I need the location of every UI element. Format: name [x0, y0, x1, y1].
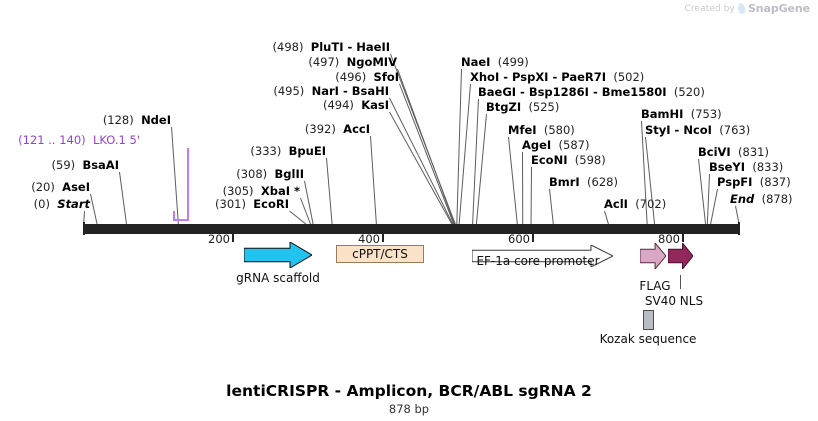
restriction-site-agei[interactable]: AgeI (587) — [522, 139, 589, 151]
feature-label-kozak-sequence: Kozak sequence — [600, 332, 697, 346]
start-marker[interactable]: (0) Start — [34, 198, 90, 210]
site-name: EcoNI — [531, 153, 567, 167]
feature-arrow-sv40-nls[interactable] — [668, 243, 693, 269]
start-position: (0) — [34, 197, 50, 211]
site-name: AccI — [343, 122, 370, 136]
site-name: BtgZI — [486, 100, 521, 114]
feature-arrow-flag[interactable] — [640, 243, 666, 269]
site-name: MfeI — [508, 123, 537, 137]
backbone-end-cap — [738, 222, 740, 235]
ruler-label-400: 400 — [358, 232, 382, 246]
site-name: KasI — [361, 98, 389, 112]
restriction-site-bcivi[interactable]: BciVI (831) — [698, 146, 769, 158]
restriction-site-ecori[interactable]: (301) EcoRI — [215, 198, 289, 210]
feature-label-sv40-nls: SV40 NLS — [645, 294, 703, 308]
site-position: (498) — [273, 40, 304, 54]
snapgene-watermark: Created by SnapGene — [684, 2, 810, 15]
site-name: BamHI — [641, 107, 683, 121]
site-leader-line — [522, 152, 523, 226]
primer-end-tick — [173, 211, 175, 221]
restriction-site-sfoi[interactable]: (496) SfoI — [335, 71, 399, 83]
site-name: EcoRI — [253, 197, 289, 211]
site-position: (520) — [674, 85, 705, 99]
site-name: BseYI — [709, 160, 745, 174]
restriction-site-mfei[interactable]: MfeI (580) — [508, 124, 575, 136]
primer-stem-line — [187, 148, 189, 221]
restriction-site-bglii[interactable]: (308) BglII — [236, 168, 304, 180]
restriction-site-bamhi[interactable]: BamHI (753) — [641, 108, 722, 120]
ruler-tick-800 — [682, 233, 684, 242]
site-leader-line — [707, 174, 710, 226]
site-position: (59) — [52, 158, 76, 172]
ruler-tick-400 — [382, 233, 384, 242]
primer-name: LKO.1 5' — [93, 133, 140, 147]
site-leader-line — [549, 189, 554, 226]
restriction-site-naei[interactable]: NaeI (499) — [461, 56, 529, 68]
restriction-site-bseyi[interactable]: BseYI (833) — [709, 161, 783, 173]
site-position: (837) — [760, 175, 791, 189]
site-position: (598) — [575, 153, 606, 167]
site-name: StyI - NcoI — [645, 123, 712, 137]
feature-arrow-grna-scaffold[interactable] — [244, 242, 312, 268]
site-position: (128) — [103, 113, 134, 127]
site-position: (587) — [559, 138, 590, 152]
site-leader-line — [710, 189, 718, 226]
site-name: NgoMIV — [347, 55, 397, 69]
site-position: (525) — [528, 100, 559, 114]
restriction-site-btgzi[interactable]: BtgZI (525) — [486, 101, 559, 113]
site-leader-line — [389, 98, 454, 226]
site-name: BglII — [275, 167, 305, 181]
restriction-site-ndei[interactable]: (128) NdeI — [103, 114, 171, 126]
restriction-site-kasi[interactable]: (494) KasI — [323, 99, 389, 111]
backbone-start-cap — [83, 222, 85, 235]
site-name: AclI — [604, 197, 628, 211]
feature-label-ef1a-core-promoter: EF-1a core promoter — [476, 254, 599, 268]
site-name: NarI - BsaHI — [312, 84, 389, 98]
watermark-brand: SnapGene — [748, 2, 810, 15]
restriction-site-bmri[interactable]: BmrI (628) — [549, 176, 618, 188]
plasmid-map-canvas: Created by SnapGene (20) AseI(59) BsaAI(… — [0, 0, 818, 421]
watermark-prefix: Created by — [684, 4, 735, 14]
site-name: SfoI — [374, 70, 399, 84]
restriction-site-asei[interactable]: (20) AseI — [31, 181, 90, 193]
feature-label-flag: FLAG — [639, 279, 670, 293]
primer-arrow-line — [173, 219, 189, 221]
site-name: BmrI — [549, 175, 580, 189]
site-leader-line — [531, 167, 532, 226]
restriction-site-acli[interactable]: AclI (702) — [604, 198, 666, 210]
restriction-site-baegi[interactable]: BaeGI - Bsp1286I - Bme1580I (520) — [478, 86, 705, 98]
ruler-tick-200 — [232, 233, 234, 242]
sequence-backbone[interactable] — [83, 226, 740, 234]
site-name: XhoI - PspXI - PaeR7I — [470, 70, 606, 84]
site-name: BciVI — [698, 145, 731, 159]
site-position: (702) — [635, 197, 666, 211]
snapgene-drop-icon — [737, 2, 746, 14]
site-position: (308) — [236, 167, 267, 181]
site-name: PspFI — [717, 175, 752, 189]
ruler-label-600: 600 — [508, 232, 532, 246]
restriction-site-pluti[interactable]: (498) PluTI - HaeII — [273, 41, 390, 53]
ruler-label-200: 200 — [208, 232, 232, 246]
site-position: (305) — [223, 184, 254, 198]
restriction-site-pspfi[interactable]: PspFI (837) — [717, 176, 791, 188]
site-position: (496) — [335, 70, 366, 84]
end-label: End — [730, 192, 754, 206]
site-position: (392) — [305, 122, 336, 136]
site-position: (831) — [738, 145, 769, 159]
site-position: (580) — [544, 123, 575, 137]
end-marker[interactable]: End (878) — [730, 193, 793, 205]
site-leader-line — [90, 194, 98, 226]
ruler-tick-600 — [532, 233, 534, 242]
site-name: XbaI * — [261, 184, 300, 198]
site-leader-line — [326, 158, 333, 226]
restriction-site-bpuei[interactable]: (333) BpuEI — [250, 145, 326, 157]
site-name: BpuEI — [289, 144, 326, 158]
site-leader-line — [698, 159, 706, 226]
restriction-site-xbai[interactable]: (305) XbaI * — [223, 185, 300, 197]
restriction-site-styi[interactable]: StyI - NcoI (763) — [645, 124, 750, 136]
restriction-site-acci[interactable]: (392) AccI — [305, 123, 370, 135]
site-name: NaeI — [461, 55, 490, 69]
site-leader-line — [390, 54, 456, 226]
site-position: (499) — [498, 55, 529, 69]
site-name: NdeI — [141, 113, 171, 127]
site-leader-line — [508, 137, 518, 226]
map-title: lentiCRISPR - Amplicon, BCR/ABL sgRNA 2 — [0, 382, 818, 400]
site-name: BsaAI — [82, 158, 119, 172]
feature-label-grna-scaffold: gRNA scaffold — [236, 271, 320, 285]
site-position: (494) — [323, 98, 354, 112]
feature-box-cppt-cts[interactable]: cPPT/CTS — [336, 245, 424, 263]
site-position: (763) — [719, 123, 750, 137]
site-name: PluTI - HaeII — [311, 40, 390, 54]
end-position: (878) — [762, 192, 793, 206]
restriction-site-xhoi[interactable]: XhoI - PspXI - PaeR7I (502) — [470, 71, 644, 83]
site-name: AseI — [62, 180, 90, 194]
restriction-site-econi[interactable]: EcoNI (598) — [531, 154, 606, 166]
restriction-site-nari[interactable]: (495) NarI - BsaHI — [273, 85, 389, 97]
start-label: Start — [57, 197, 90, 211]
site-leader-line — [370, 136, 377, 226]
site-name: BaeGI - Bsp1286I - Bme1580I — [478, 85, 667, 99]
site-position: (833) — [752, 160, 783, 174]
site-position: (495) — [273, 84, 304, 98]
site-position: (497) — [308, 55, 339, 69]
sv40-nls-leader-line — [680, 275, 681, 289]
restriction-site-bsaai[interactable]: (59) BsaAI — [52, 159, 119, 171]
primer-position: (121 .. 140) — [18, 133, 86, 147]
site-leader-line — [119, 172, 127, 226]
site-name: AgeI — [522, 138, 551, 152]
site-position: (628) — [587, 175, 618, 189]
primer-label-lko1-5prime[interactable]: (121 .. 140) LKO.1 5' — [18, 134, 140, 146]
map-length: 878 bp — [0, 402, 818, 416]
feature-box-kozak-sequence[interactable] — [643, 310, 654, 330]
restriction-site-ngomiv[interactable]: (497) NgoMIV — [308, 56, 397, 68]
site-position: (502) — [613, 70, 644, 84]
site-position: (333) — [250, 144, 281, 158]
site-position: (301) — [215, 197, 246, 211]
site-position: (753) — [691, 107, 722, 121]
site-position: (20) — [31, 180, 55, 194]
